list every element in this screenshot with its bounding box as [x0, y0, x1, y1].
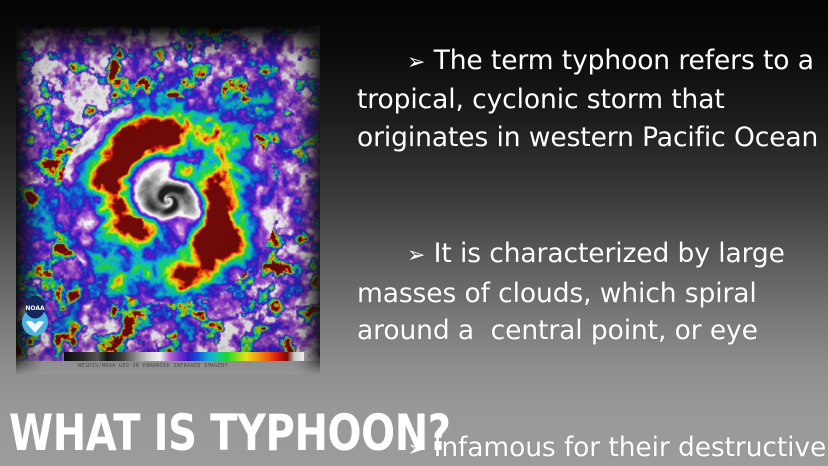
bullet-text-block: ➢ The term typhoon refers to a tropical,… [333, 4, 828, 466]
bullet-arrow-icon: ➢ [407, 243, 425, 268]
satellite-image-canvas [16, 25, 320, 361]
slide-canvas: NOAA NESDIS/NOAA GEO-IR ENHANCED INFRARE… [0, 0, 828, 466]
typhoon-satellite-image: NOAA NESDIS/NOAA GEO-IR ENHANCED INFRARE… [16, 25, 320, 375]
noaa-logo: NOAA [20, 295, 50, 337]
page-title: WHAT IS TYPHOON? [9, 407, 451, 459]
color-scale-bar [64, 352, 304, 361]
bullet-arrow-icon: ➢ [407, 50, 425, 75]
bullet-item: ➢ It is characterized by large masses of… [333, 198, 828, 388]
noaa-logo-text: NOAA [25, 305, 45, 312]
color-scale-caption: NESDIS/NOAA GEO-IR ENHANCED INFRARED IMA… [78, 363, 293, 371]
bullet-text: The term typhoon refers to a tropical, c… [357, 45, 822, 153]
bullet-item: ➢ The term typhoon refers to a tropical,… [333, 4, 828, 194]
